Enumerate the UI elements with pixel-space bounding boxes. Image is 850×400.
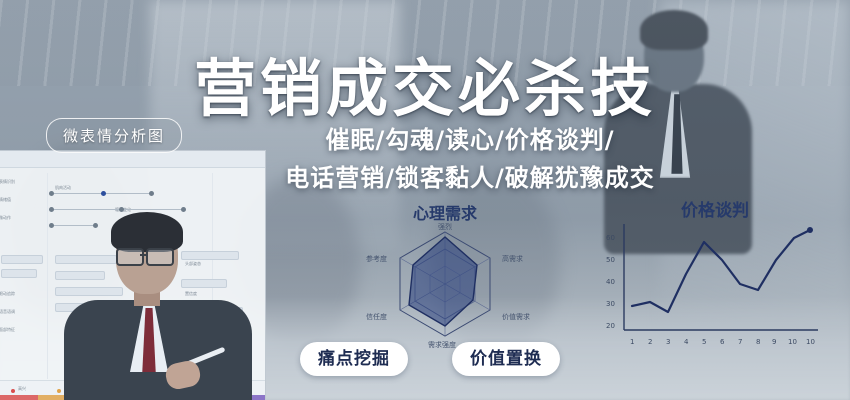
subtitle-line-2: 电话营销/锁客黏人/破解犹豫成交	[150, 158, 790, 193]
marketing-banner: 表情识别 情绪值 微动作 眼动追踪 语音语调 面部特征 肌肉活动 瞳孔变化 头部…	[0, 0, 850, 400]
line-chart: 价格谈判 60 50 40 30 20 1 2 3 4 5 6 7 8 9 10…	[600, 196, 830, 376]
panel-label: 面部特征	[0, 327, 15, 333]
pill-pain-point[interactable]: 痛点挖掘	[300, 342, 408, 376]
x-tick-label: 4	[684, 338, 688, 346]
page-title: 营销成交必杀技	[0, 38, 850, 128]
panel-label: 眼动追踪	[0, 291, 15, 297]
y-tick-label: 20	[606, 322, 615, 330]
radar-axis-label: 强烈	[438, 222, 452, 232]
panel-label: 语音语调	[0, 309, 15, 315]
x-tick-label: 10	[806, 338, 815, 346]
panel-label: 情绪值	[0, 197, 11, 203]
radar-axis-label: 价值需求	[502, 312, 530, 322]
x-tick-label: 10	[788, 338, 797, 346]
x-tick-label: 8	[756, 338, 760, 346]
y-tick-label: 60	[606, 234, 615, 242]
radar-axis-label: 高需求	[502, 254, 523, 264]
radar-chart: 心理需求 强烈 高需求 价值需求 需求强度 信任度 参考度	[330, 200, 560, 360]
x-tick-label: 2	[648, 338, 652, 346]
legend-label: 高兴	[18, 386, 26, 392]
y-tick-label: 40	[606, 278, 615, 286]
panel-label: 表情识别	[0, 179, 15, 185]
radar-axis-label: 信任度	[366, 312, 387, 322]
x-tick-label: 3	[666, 338, 670, 346]
panel-label: 肌肉活动	[55, 185, 71, 191]
subtitle-line-1: 催眠/勾魂/读心/价格谈判/	[150, 120, 790, 155]
radar-chart-title: 心理需求	[330, 200, 560, 224]
y-tick-label: 50	[606, 256, 615, 264]
foreground-speaker	[58, 212, 258, 400]
x-tick-label: 6	[720, 338, 724, 346]
x-tick-label: 9	[772, 338, 776, 346]
x-tick-label: 1	[630, 338, 634, 346]
x-tick-label: 5	[702, 338, 706, 346]
line-chart-title: 价格谈判	[600, 196, 830, 221]
panel-label: 微动作	[0, 215, 11, 221]
x-tick-label: 7	[738, 338, 742, 346]
radar-axis-label: 参考度	[366, 254, 387, 264]
y-tick-label: 30	[606, 300, 615, 308]
radar-axis-label: 需求强度	[428, 340, 456, 350]
pill-value-exchange[interactable]: 价值置换	[452, 342, 560, 376]
